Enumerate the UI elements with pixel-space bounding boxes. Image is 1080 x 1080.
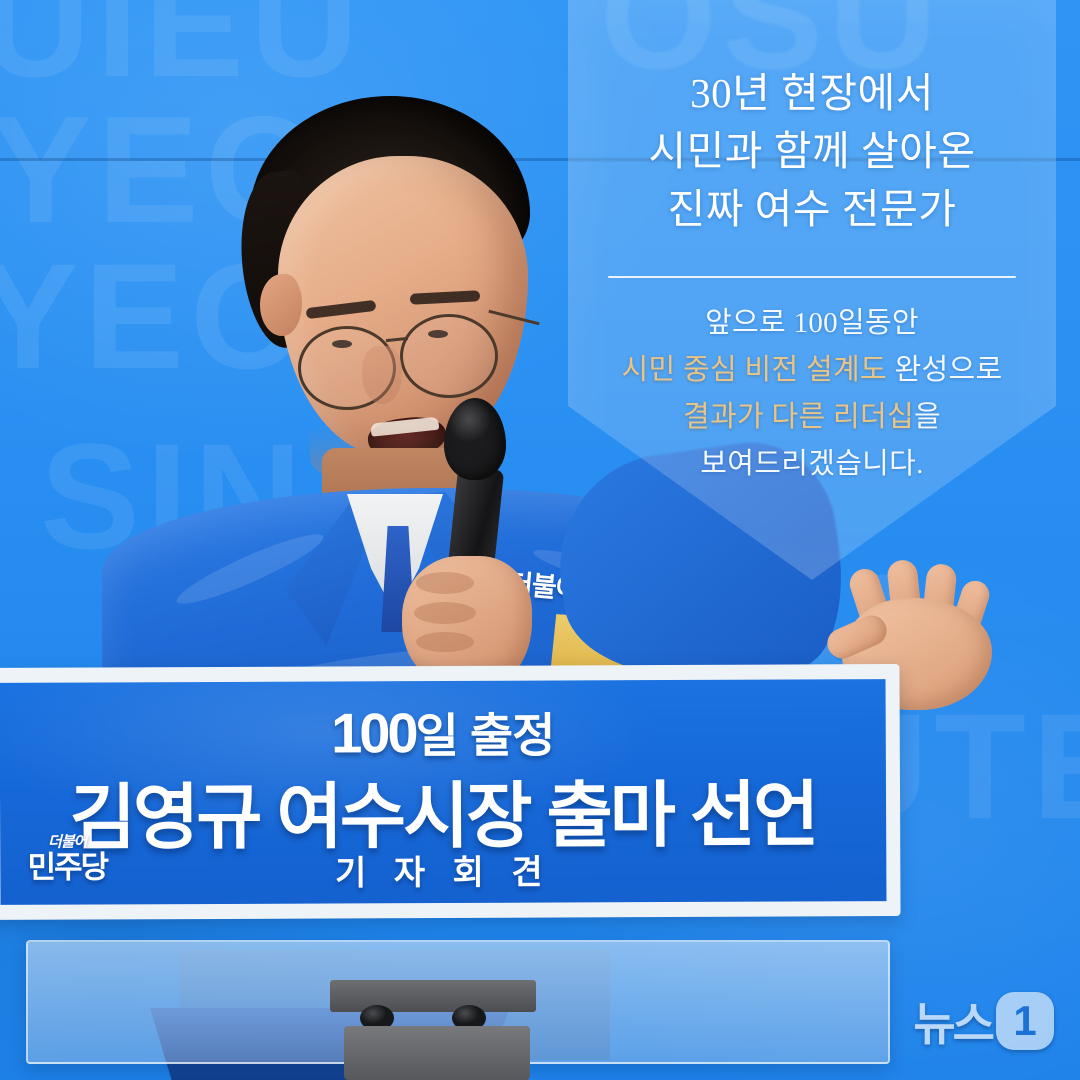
watermark-badge-icon: 1	[996, 992, 1054, 1050]
podium-shelf	[330, 980, 536, 1012]
headline-line-1: 30년 현장에서	[568, 64, 1056, 122]
news-watermark: 뉴스 1	[913, 988, 1054, 1054]
subcopy-line-3: 결과가 다른 리더십을	[568, 394, 1056, 441]
subcopy-highlight: 시민 중심 비전 설계도	[622, 354, 887, 386]
subcopy-rest: 을	[914, 401, 941, 433]
subcopy-line-2: 시민 중심 비전 설계도 완성으로	[568, 347, 1056, 394]
knuckle	[416, 572, 474, 594]
subcopy-block: 앞으로 100일동안 시민 중심 비전 설계도 완성으로 결과가 다른 리더십을…	[568, 300, 1056, 488]
banner-line-1-rest: 일 출정	[415, 709, 554, 763]
subcopy-highlight: 결과가 다른 리더십	[683, 401, 914, 433]
podium-equipment-box	[344, 1026, 530, 1080]
banner-subtitle: 기 자 회 견	[0, 843, 886, 896]
banner-inner: 100일 출정 김영규 여수시장 출마 선언 기 자 회 견 더불어 민주당	[0, 679, 886, 905]
watermark-text: 뉴스	[913, 988, 992, 1054]
press-conference-banner: 100일 출정 김영규 여수시장 출마 선언 기 자 회 견 더불어 민주당	[0, 664, 901, 920]
headline-line-2: 시민과 함께 살아온	[568, 122, 1056, 180]
banner-day-count: 100	[331, 701, 416, 764]
party-logo-sub: 더불어	[12, 834, 122, 849]
photo-card: UIEU YEO YEO OSU SU UTE SIN	[0, 0, 1080, 1080]
nose	[362, 346, 402, 404]
headline-block: 30년 현장에서 시민과 함께 살아온 진짜 여수 전문가	[568, 64, 1056, 239]
subcopy-line-4: 보여드리겠습니다.	[568, 441, 1056, 488]
knuckle	[414, 602, 476, 624]
subcopy-line-1: 앞으로 100일동안	[568, 300, 1056, 347]
backdrop-ghost-text: UIEU	[0, 0, 364, 90]
glasses-icon	[288, 310, 538, 402]
glasses-lens-right	[400, 314, 498, 398]
subcopy-rest: 완성으로	[887, 354, 1002, 386]
party-logo: 더불어 민주당	[12, 834, 122, 896]
headline-line-3: 진짜 여수 전문가	[568, 180, 1056, 238]
knuckle	[416, 632, 474, 652]
headline-divider	[608, 276, 1016, 278]
glasses-temple	[488, 310, 539, 325]
party-logo-main: 민주당	[12, 851, 122, 882]
